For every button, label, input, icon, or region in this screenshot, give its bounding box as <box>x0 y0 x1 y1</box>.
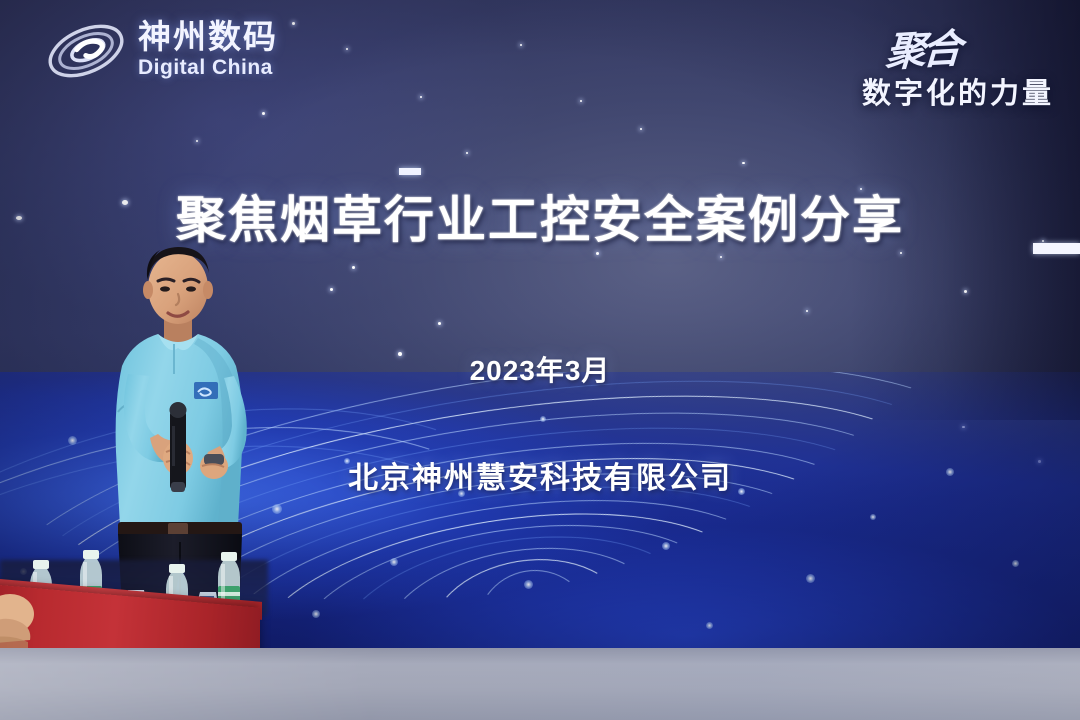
presentation-photo: 神州数码 Digital China 聚合 数字化的力量 聚焦烟草行业工控安全案… <box>0 0 1080 720</box>
spiral-swirl-logo-icon <box>44 16 128 86</box>
brand-logo: 神州数码 Digital China <box>44 16 278 86</box>
stage-floor <box>0 648 1080 720</box>
brand-name-cn: 神州数码 <box>138 20 278 53</box>
event-theme: 聚合 数字化的力量 <box>862 18 1054 112</box>
theme-calligraphy: 聚合 <box>884 16 959 78</box>
brand-name-en: Digital China <box>138 57 278 78</box>
title-accent-bar <box>399 168 421 175</box>
screen-edge-highlight <box>1033 243 1080 254</box>
